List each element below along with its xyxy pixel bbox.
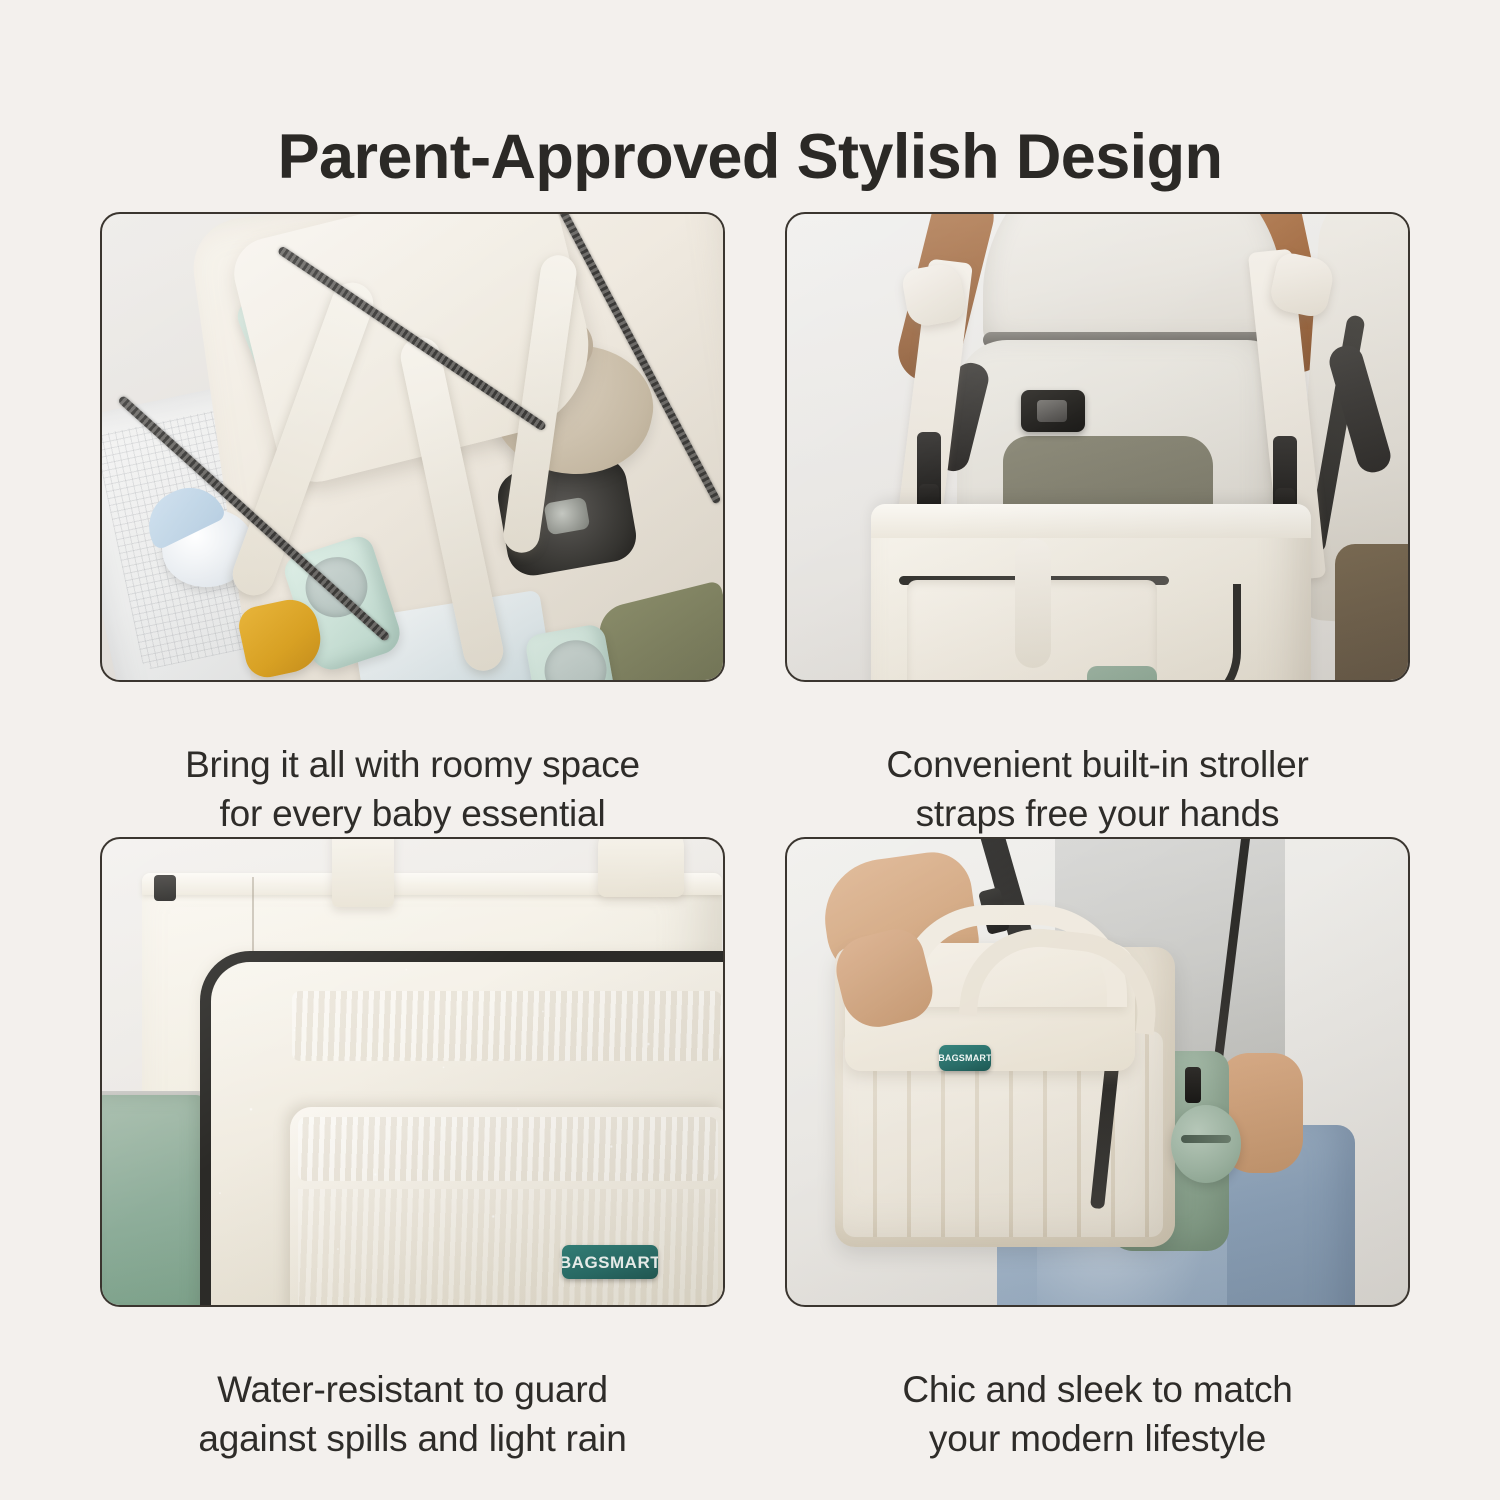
caption-line-2: straps free your hands xyxy=(916,793,1280,834)
photo-frame-3: BAGSMART xyxy=(100,837,725,1307)
caption-line-1: Chic and sleek to match xyxy=(902,1369,1292,1410)
caption-stroller-straps: Convenient built-in stroller straps free… xyxy=(886,741,1308,839)
feature-photo-water-resistant: BAGSMART xyxy=(100,837,725,1307)
stroller-logo-badge xyxy=(1021,390,1085,432)
caption-water-resistant: Water-resistant to guard against spills … xyxy=(198,1366,626,1464)
brand-logo-patch: BAGSMART xyxy=(562,1245,658,1279)
caption-chic-sleek: Chic and sleek to match your modern life… xyxy=(902,1366,1292,1464)
strap-clip-left xyxy=(917,432,941,510)
stroller-lower-frame xyxy=(1335,544,1408,680)
feature-photo-roomy-space xyxy=(100,212,725,682)
green-side-panel xyxy=(102,1095,206,1305)
caption-roomy-space: Bring it all with roomy space for every … xyxy=(185,741,640,839)
scene-model-carrying-bag: BAGSMART xyxy=(787,839,1408,1305)
infographic-root: Parent-Approved Stylish Design xyxy=(0,0,1500,1500)
scene-water-resistant-fabric: BAGSMART xyxy=(102,839,723,1305)
caption-cell-stroller-straps: Convenient built-in stroller straps free… xyxy=(785,682,1410,837)
strap-clip-right xyxy=(1273,436,1297,514)
pouch-attachment-clip xyxy=(1185,1067,1201,1103)
brand-logo-patch-small: BAGSMART xyxy=(939,1045,991,1071)
caption-line-2: your modern lifestyle xyxy=(929,1418,1266,1459)
feature-photo-stroller-straps xyxy=(785,212,1410,682)
caption-line-1: Bring it all with roomy space xyxy=(185,744,640,785)
photo-frame-2 xyxy=(785,212,1410,682)
tote-handle-tab-right xyxy=(598,839,684,897)
bag-top-band xyxy=(871,504,1311,538)
bottle-cap-3 xyxy=(540,635,611,680)
brand-logo-text: BAGSMART xyxy=(562,1254,658,1271)
caption-cell-roomy-space: Bring it all with roomy space for every … xyxy=(100,682,725,837)
caption-cell-chic-sleek: Chic and sleek to match your modern life… xyxy=(785,1307,1410,1457)
caption-line-2: against spills and light rain xyxy=(198,1418,626,1459)
brand-logo-text-small: BAGSMART xyxy=(939,1054,991,1063)
scene-stroller-with-bag xyxy=(787,214,1408,680)
page-title: Parent-Approved Stylish Design xyxy=(0,124,1500,190)
caption-line-2: for every baby essential xyxy=(220,793,606,834)
bag-carry-handle xyxy=(1015,538,1051,668)
tote-zipper-pull xyxy=(154,875,176,901)
green-pouch-peek xyxy=(1087,666,1157,680)
tote-handle-tab-left xyxy=(332,839,394,907)
scene-open-bag-interior xyxy=(102,214,723,680)
green-round-pouch xyxy=(1171,1105,1241,1183)
caption-line-1: Convenient built-in stroller xyxy=(886,744,1308,785)
caption-cell-water-resistant: Water-resistant to guard against spills … xyxy=(100,1307,725,1457)
photo-frame-4: BAGSMART xyxy=(785,837,1410,1307)
feature-photo-chic-sleek: BAGSMART xyxy=(785,837,1410,1307)
photo-frame-1 xyxy=(100,212,725,682)
feature-grid: Bring it all with roomy space for every … xyxy=(100,212,1410,1427)
caption-line-1: Water-resistant to guard xyxy=(217,1369,608,1410)
